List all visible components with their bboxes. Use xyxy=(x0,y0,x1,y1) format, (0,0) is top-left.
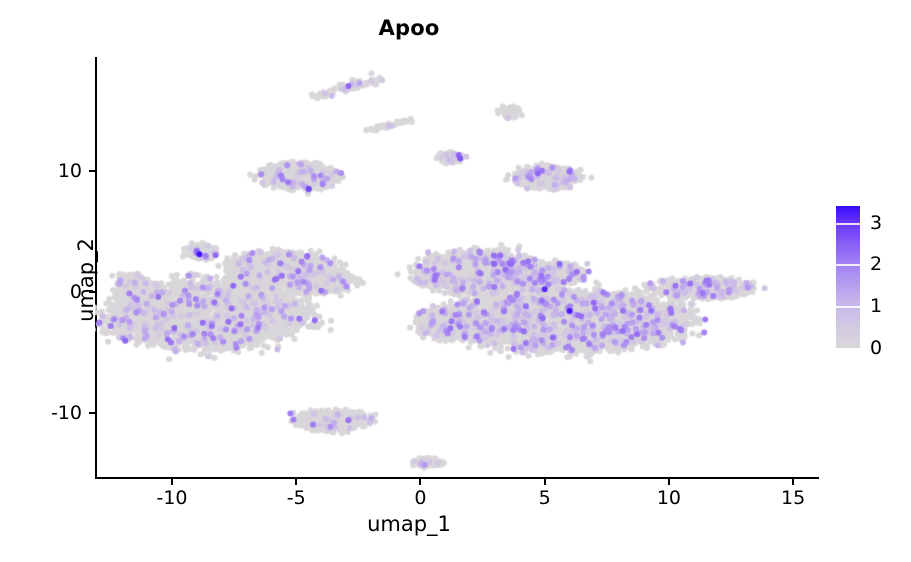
x-tick xyxy=(668,479,670,485)
y-tick-label: -10 xyxy=(51,402,82,424)
x-tick-label: 0 xyxy=(414,487,426,509)
y-tick-label: 10 xyxy=(58,160,82,182)
x-tick-label: 15 xyxy=(781,487,805,509)
y-tick xyxy=(89,170,95,172)
x-tick xyxy=(171,479,173,485)
x-tick-label: 10 xyxy=(657,487,681,509)
colorbar-tick-label: 1 xyxy=(870,295,882,317)
colorbar-tick-label: 2 xyxy=(870,253,882,275)
x-tick xyxy=(792,479,794,485)
scatter-canvas xyxy=(95,57,818,478)
x-tick-label: -5 xyxy=(287,487,306,509)
y-axis-label: umap_2 xyxy=(74,180,98,380)
colorbar-gradient: 0123 xyxy=(836,206,860,348)
colorbar: 0123 xyxy=(836,206,860,348)
colorbar-tick-label: 3 xyxy=(870,212,882,234)
x-tick xyxy=(419,479,421,485)
page-title: Apoo xyxy=(0,16,818,40)
y-tick xyxy=(89,412,95,414)
x-axis-label: umap_1 xyxy=(0,512,818,536)
umap-feature-plot: Apoo -10-5051015 -10010 umap_1 umap_2 01… xyxy=(0,0,911,562)
x-tick xyxy=(295,479,297,485)
colorbar-tick xyxy=(836,223,860,225)
x-tick-label: -10 xyxy=(156,487,187,509)
x-tick xyxy=(544,479,546,485)
colorbar-tick-label: 0 xyxy=(870,337,882,359)
x-tick-label: 5 xyxy=(539,487,551,509)
colorbar-tick xyxy=(836,306,860,308)
colorbar-tick xyxy=(836,264,860,266)
